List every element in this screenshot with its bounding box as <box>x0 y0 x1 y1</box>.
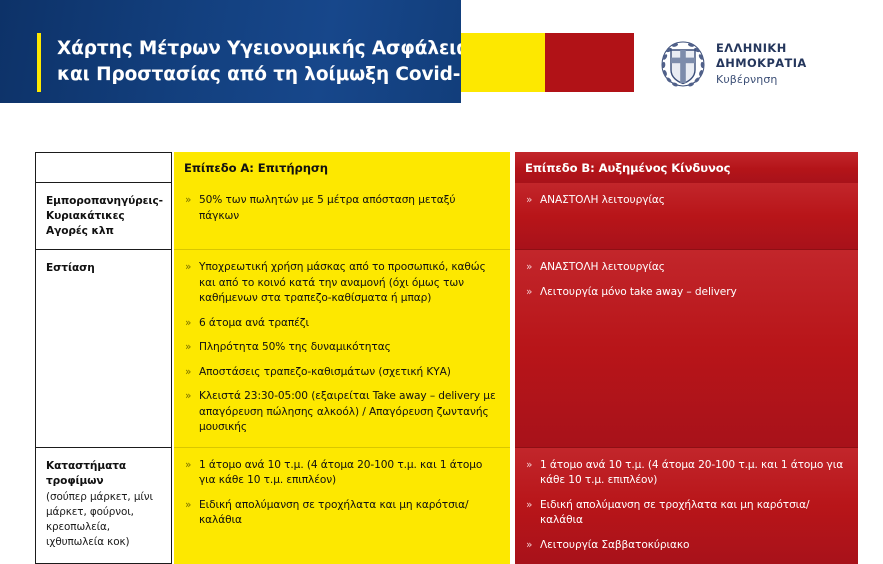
level-a-bullet-list: 1 άτομο ανά 10 τ.μ. (4 άτομα 20-100 τ.μ.… <box>184 458 498 529</box>
list-item: Κλειστά 23:30-05:00 (εξαιρείται Take awa… <box>184 389 498 436</box>
greek-coat-of-arms-icon <box>659 39 707 89</box>
list-item: ΑΝΑΣΤΟΛΗ λειτουργίας <box>525 193 846 209</box>
page-title-line-1: Χάρτης Μέτρων Υγειονομικής Ασφάλειας <box>57 36 457 62</box>
row-level-b-cell: 1 άτομο ανά 10 τ.μ. (4 άτομα 20-100 τ.μ.… <box>515 448 858 564</box>
row-level-a-cell: 50% των πωλητών με 5 μέτρα απόσταση μετα… <box>174 183 510 250</box>
row-label-cell: Καταστήματα τροφίμων (σούπερ μάρκετ, μίν… <box>35 448 172 564</box>
list-item: Αποστάσεις τραπεζο-καθισμάτων (σχετική Κ… <box>184 365 498 381</box>
emblem-republic-label: ΕΛΛΗΝΙΚΗ ΔΗΜΟΚΡΑΤΙΑ <box>716 41 874 70</box>
header-cell-blank <box>35 152 172 183</box>
level-a-header-label: Επίπεδο Α: Επιτήρηση <box>184 161 328 175</box>
list-item: 50% των πωλητών με 5 μέτρα απόσταση μετα… <box>184 193 498 224</box>
header-cell-level-b: Επίπεδο Β: Αυξημένος Κίνδυνος <box>515 152 858 183</box>
table-header-row: Επίπεδο Α: Επιτήρηση Επίπεδο Β: Αυξημένο… <box>35 152 858 183</box>
list-item: 6 άτομα ανά τραπέζι <box>184 316 498 332</box>
row-level-b-cell: ΑΝΑΣΤΟΛΗ λειτουργίας Λειτουργία μόνο tak… <box>515 250 858 448</box>
list-item: 1 άτομο ανά 10 τ.μ. (4 άτομα 20-100 τ.μ.… <box>184 458 498 489</box>
table-row: Εμποροπανηγύρεις-Κυριακάτικες Αγορές κλπ… <box>35 183 858 250</box>
header-yellow-block <box>461 33 545 92</box>
row-label-sub: (σούπερ μάρκετ, μίνι μάρκετ, φούρνοι, κρ… <box>46 490 162 550</box>
level-b-header-label: Επίπεδο Β: Αυξημένος Κίνδυνος <box>525 161 730 175</box>
level-b-bullet-list: ΑΝΑΣΤΟΛΗ λειτουργίας Λειτουργία μόνο tak… <box>525 260 846 300</box>
measures-table: Επίπεδο Α: Επιτήρηση Επίπεδο Β: Αυξημένο… <box>35 152 858 564</box>
list-item: Υποχρεωτική χρήση μάσκας από το προσωπικ… <box>184 260 498 307</box>
row-level-a-cell: Υποχρεωτική χρήση μάσκας από το προσωπικ… <box>174 250 510 448</box>
row-label-cell: Εμποροπανηγύρεις-Κυριακάτικες Αγορές κλπ <box>35 183 172 250</box>
level-b-bullet-list: 1 άτομο ανά 10 τ.μ. (4 άτομα 20-100 τ.μ.… <box>525 458 846 554</box>
list-item: ΑΝΑΣΤΟΛΗ λειτουργίας <box>525 260 846 276</box>
level-b-bullet-list: ΑΝΑΣΤΟΛΗ λειτουργίας <box>525 193 846 209</box>
page-title-line-2: και Προστασίας από τη λοίμωξη Covid-19 <box>57 62 457 88</box>
page-header-banner: Χάρτης Μέτρων Υγειονομικής Ασφάλειας και… <box>0 0 883 103</box>
level-a-bullet-list: 50% των πωλητών με 5 μέτρα απόσταση μετα… <box>184 193 498 224</box>
table-row: Καταστήματα τροφίμων (σούπερ μάρκετ, μίν… <box>35 448 858 564</box>
row-label-cell: Εστίαση <box>35 250 172 448</box>
list-item: Ειδική απολύμανση σε τροχήλατα και μη κα… <box>525 498 846 529</box>
list-item: Λειτουργία Σαββατοκύριακο <box>525 538 846 554</box>
row-label-title: Καταστήματα τροφίμων <box>46 459 162 489</box>
page-title: Χάρτης Μέτρων Υγειονομικής Ασφάλειας και… <box>57 36 457 88</box>
emblem-government-label: Κυβέρνηση <box>716 73 874 87</box>
table-row: Εστίαση Υποχρεωτική χρήση μάσκας από το … <box>35 250 858 448</box>
row-level-a-cell: 1 άτομο ανά 10 τ.μ. (4 άτομα 20-100 τ.μ.… <box>174 448 510 564</box>
header-yellow-accent-bar <box>37 33 41 92</box>
row-label-title: Εμποροπανηγύρεις-Κυριακάτικες Αγορές κλπ <box>46 194 162 239</box>
government-emblem-block: ΕΛΛΗΝΙΚΗ ΔΗΜΟΚΡΑΤΙΑ Κυβέρνηση <box>659 38 874 90</box>
list-item: 1 άτομο ανά 10 τ.μ. (4 άτομα 20-100 τ.μ.… <box>525 458 846 489</box>
row-label-title: Εστίαση <box>46 261 162 276</box>
emblem-text: ΕΛΛΗΝΙΚΗ ΔΗΜΟΚΡΑΤΙΑ Κυβέρνηση <box>716 41 874 86</box>
header-red-block <box>545 33 634 92</box>
row-level-b-cell: ΑΝΑΣΤΟΛΗ λειτουργίας <box>515 183 858 250</box>
list-item: Ειδική απολύμανση σε τροχήλατα και μη κα… <box>184 498 498 529</box>
list-item: Λειτουργία μόνο take away – delivery <box>525 285 846 301</box>
level-a-bullet-list: Υποχρεωτική χρήση μάσκας από το προσωπικ… <box>184 260 498 436</box>
list-item: Πληρότητα 50% της δυναμικότητας <box>184 340 498 356</box>
header-cell-level-a: Επίπεδο Α: Επιτήρηση <box>174 152 510 183</box>
